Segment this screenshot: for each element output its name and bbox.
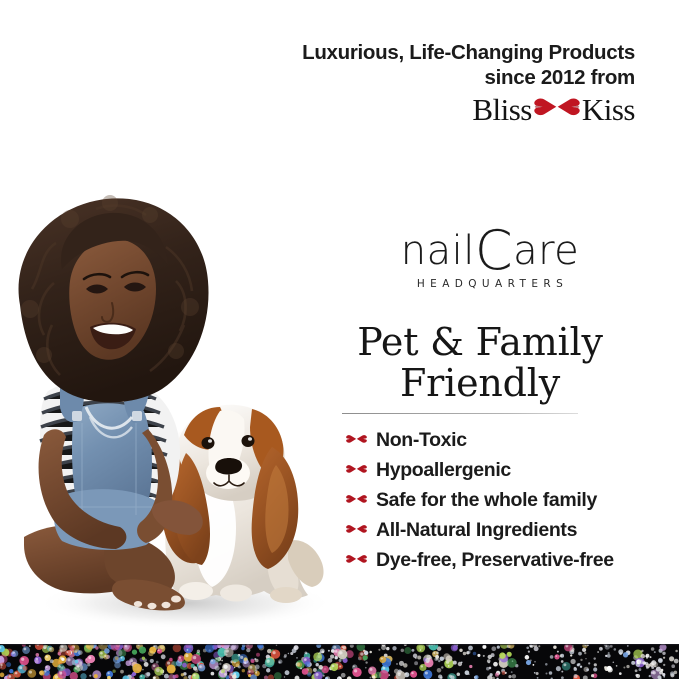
headline-divider (342, 413, 578, 414)
page-title: Pet & Family Friendly (330, 322, 630, 404)
list-item: Dye-free, Preservative-free (346, 545, 676, 575)
lips-bullet-icon (346, 552, 367, 570)
list-item: Safe for the whole family (346, 485, 676, 515)
lips-bullet-icon (346, 522, 367, 540)
wordmark-capital-c: C (475, 219, 513, 282)
tagline-line-1: Luxurious, Life-Changing Products (250, 40, 635, 65)
girl-with-dog-photo (0, 185, 345, 650)
benefit-label: Non-Toxic (376, 429, 467, 452)
wordmark-part-nail: nail (401, 228, 475, 274)
promotional-banner: Luxurious, Life-Changing Products since … (0, 0, 679, 679)
lips-bullet-icon (346, 462, 367, 480)
tagline-line-2: since 2012 from (250, 65, 635, 90)
nailcare-subtitle: HEADQUARTERS (345, 278, 635, 290)
lips-bullet-icon (346, 432, 367, 450)
glitter-footer-band (0, 644, 679, 679)
benefit-label: All-Natural Ingredients (376, 519, 577, 542)
list-item: All-Natural Ingredients (346, 515, 676, 545)
lips-icon (534, 95, 580, 124)
headline-line-1: Pet & Family (330, 322, 630, 363)
benefits-list: Non-Toxic Hypoallergenic (346, 425, 676, 575)
nailcare-wordmark: nailCare (345, 228, 635, 274)
lips-bullet-icon (346, 492, 367, 510)
header-tagline: Luxurious, Life-Changing Products since … (250, 40, 635, 90)
nailcare-hq-logo: nailCare HEADQUARTERS (345, 228, 635, 290)
benefit-label: Dye-free, Preservative-free (376, 549, 614, 572)
list-item: Non-Toxic (346, 425, 676, 455)
benefit-label: Hypoallergenic (376, 459, 511, 482)
list-item: Hypoallergenic (346, 455, 676, 485)
wordmark-part-are: are (513, 228, 579, 274)
bliss-kiss-logo: Bliss Kiss (250, 94, 635, 125)
benefit-label: Safe for the whole family (376, 489, 597, 512)
headline-line-2: Friendly (330, 363, 630, 404)
brand-word-kiss: Kiss (582, 94, 635, 125)
brand-word-bliss: Bliss (472, 94, 532, 125)
